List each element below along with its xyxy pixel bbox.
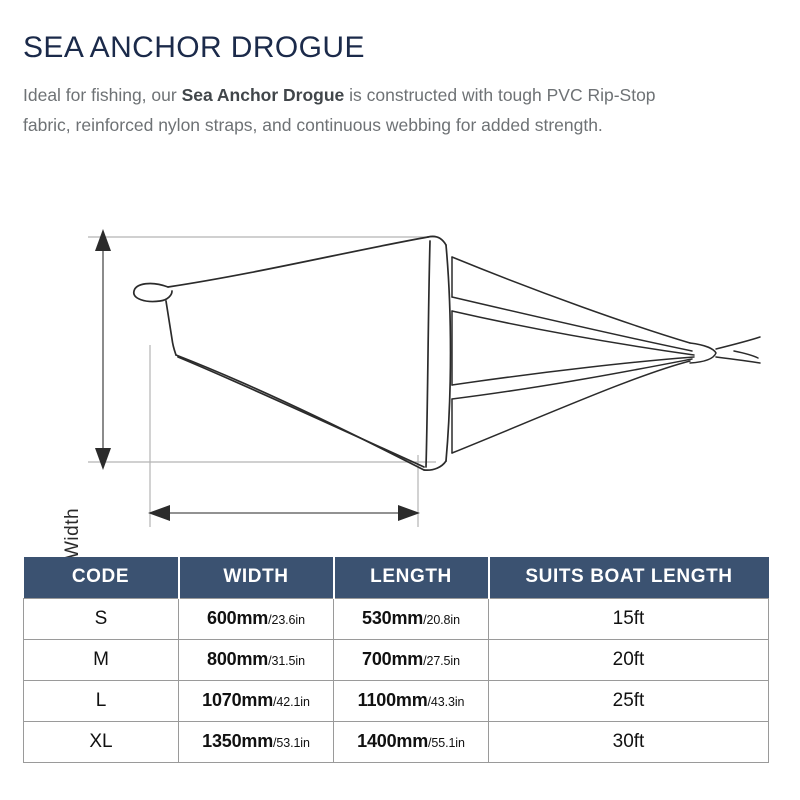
width-mm: 800mm xyxy=(207,649,268,669)
length-in: /20.8in xyxy=(423,613,460,627)
width-in: /23.6in xyxy=(268,613,305,627)
cell-boat-length: 30ft xyxy=(489,721,769,762)
drogue-illustration xyxy=(0,215,800,545)
swivel-shackle xyxy=(690,337,760,363)
cell-width: 600mm/23.6in xyxy=(179,598,334,639)
length-in: /27.5in xyxy=(423,654,460,668)
header-block: SEA ANCHOR DROGUE Ideal for fishing, our… xyxy=(23,30,723,140)
width-mm: 1070mm xyxy=(202,690,273,710)
cell-code: S xyxy=(24,598,179,639)
width-in: /42.1in xyxy=(273,695,310,709)
table-row: L 1070mm/42.1in 1100mm/43.3in 25ft xyxy=(24,680,769,721)
length-dimension-arrow xyxy=(148,505,420,521)
length-mm: 530mm xyxy=(362,608,423,628)
page-title: SEA ANCHOR DROGUE xyxy=(23,30,723,66)
cell-width: 800mm/31.5in xyxy=(179,639,334,680)
dimension-extension-lines xyxy=(88,237,436,527)
cell-length: 1400mm/55.1in xyxy=(334,721,489,762)
cell-width: 1350mm/53.1in xyxy=(179,721,334,762)
cell-code: L xyxy=(24,680,179,721)
column-header-boat: SUITS BOAT LENGTH xyxy=(489,557,769,598)
table-row: M 800mm/31.5in 700mm/27.5in 20ft xyxy=(24,639,769,680)
width-in: /31.5in xyxy=(268,654,305,668)
width-in: /53.1in xyxy=(273,736,310,750)
length-in: /43.3in xyxy=(428,695,465,709)
cell-boat-length: 20ft xyxy=(489,639,769,680)
cell-boat-length: 15ft xyxy=(489,598,769,639)
drogue-canopy-outline xyxy=(134,236,451,470)
width-mm: 600mm xyxy=(207,608,268,628)
length-in: /55.1in xyxy=(428,736,465,750)
cell-length: 530mm/20.8in xyxy=(334,598,489,639)
width-dimension-arrow xyxy=(95,229,111,470)
table-row: S 600mm/23.6in 530mm/20.8in 15ft xyxy=(24,598,769,639)
length-mm: 1400mm xyxy=(357,731,428,751)
table-header-row: CODE WIDTH LENGTH SUITS BOAT LENGTH xyxy=(24,557,769,598)
cell-code: XL xyxy=(24,721,179,762)
table-row: XL 1350mm/53.1in 1400mm/55.1in 30ft xyxy=(24,721,769,762)
column-header-code: CODE xyxy=(24,557,179,598)
intro-paragraph: Ideal for fishing, our Sea Anchor Drogue… xyxy=(23,80,683,140)
size-chart: CODE WIDTH LENGTH SUITS BOAT LENGTH S 60… xyxy=(23,557,768,763)
length-mm: 1100mm xyxy=(358,690,428,710)
cell-width: 1070mm/42.1in xyxy=(179,680,334,721)
width-mm: 1350mm xyxy=(202,731,273,751)
size-table: CODE WIDTH LENGTH SUITS BOAT LENGTH S 60… xyxy=(23,557,769,763)
column-header-width: WIDTH xyxy=(179,557,334,598)
product-name-emphasis: Sea Anchor Drogue xyxy=(182,85,345,105)
intro-text-before: Ideal for fishing, our xyxy=(23,85,182,105)
column-header-length: LENGTH xyxy=(334,557,489,598)
cell-length: 1100mm/43.3in xyxy=(334,680,489,721)
width-dimension-label: Width xyxy=(62,513,84,559)
cell-code: M xyxy=(24,639,179,680)
length-mm: 700mm xyxy=(362,649,423,669)
cell-length: 700mm/27.5in xyxy=(334,639,489,680)
bridle-straps xyxy=(452,257,694,453)
product-diagram: Width xyxy=(0,215,800,545)
cell-boat-length: 25ft xyxy=(489,680,769,721)
